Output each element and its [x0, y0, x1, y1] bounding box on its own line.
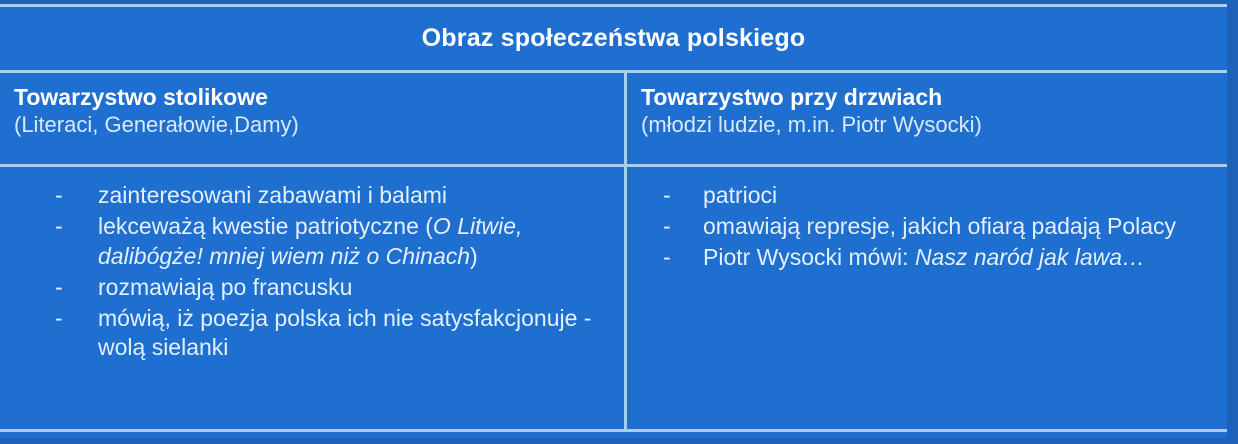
- bullet-list-left: -zainteresowani zabawami i balami-lekcew…: [0, 181, 618, 363]
- bullet-item: -mówią, iż poezja polska ich nie satysfa…: [0, 304, 618, 364]
- bullet-item: -patrioci: [627, 181, 1221, 211]
- bullet-text-italic: Nasz naród jak lawa…: [915, 244, 1145, 270]
- column-heading-left: Towarzystwo stolikowe: [14, 84, 624, 111]
- bullet-item: -zainteresowani zabawami i balami: [0, 181, 618, 211]
- table-body-row: -zainteresowani zabawami i balami-lekcew…: [0, 167, 1227, 432]
- header-cell-right: Towarzystwo przy drzwiach (młodzi ludzie…: [624, 73, 1227, 164]
- table-title: Obraz społeczeństwa polskiego: [422, 24, 806, 53]
- table-title-row: Obraz społeczeństwa polskiego: [0, 7, 1227, 73]
- comparison-table: Obraz społeczeństwa polskiego Towarzystw…: [0, 4, 1227, 438]
- slide-canvas: Obraz społeczeństwa polskiego Towarzystw…: [0, 0, 1238, 444]
- bullet-item: -omawiają represje, jakich ofiarą padają…: [627, 212, 1221, 242]
- bullet-text: rozmawiają po francusku: [98, 274, 352, 300]
- header-cell-left: Towarzystwo stolikowe (Literaci, Generał…: [0, 73, 624, 164]
- bullet-text: Piotr Wysocki mówi:: [703, 244, 915, 270]
- column-subheading-right: (młodzi ludzie, m.in. Piotr Wysocki): [641, 112, 1227, 139]
- bullet-text: patrioci: [703, 182, 777, 208]
- bullet-item: -lekceważą kwestie patriotyczne (O Litwi…: [0, 212, 618, 272]
- column-heading-right: Towarzystwo przy drzwiach: [641, 84, 1227, 111]
- table-header-row: Towarzystwo stolikowe (Literaci, Generał…: [0, 73, 1227, 167]
- bullet-marker: -: [55, 212, 63, 242]
- bullet-marker: -: [663, 243, 671, 273]
- bullet-marker: -: [55, 273, 63, 303]
- bullet-text: ): [470, 243, 478, 269]
- bullet-text: omawiają represje, jakich ofiarą padają …: [703, 213, 1176, 239]
- body-cell-right: -patrioci-omawiają represje, jakich ofia…: [624, 167, 1227, 429]
- bullet-item: -Piotr Wysocki mówi: Nasz naród jak lawa…: [627, 243, 1221, 273]
- bullet-item: -rozmawiają po francusku: [0, 273, 618, 303]
- bullet-list-right: -patrioci-omawiają represje, jakich ofia…: [627, 181, 1221, 273]
- bullet-text: mówią, iż poezja polska ich nie satysfak…: [98, 305, 591, 361]
- bullet-marker: -: [663, 181, 671, 211]
- body-cell-left: -zainteresowani zabawami i balami-lekcew…: [0, 167, 624, 429]
- bullet-marker: -: [55, 304, 63, 334]
- bullet-text: zainteresowani zabawami i balami: [98, 182, 447, 208]
- bullet-marker: -: [55, 181, 63, 211]
- bullet-marker: -: [663, 212, 671, 242]
- column-subheading-left: (Literaci, Generałowie,Damy): [14, 112, 624, 139]
- bullet-text: lekceważą kwestie patriotyczne (: [98, 213, 433, 239]
